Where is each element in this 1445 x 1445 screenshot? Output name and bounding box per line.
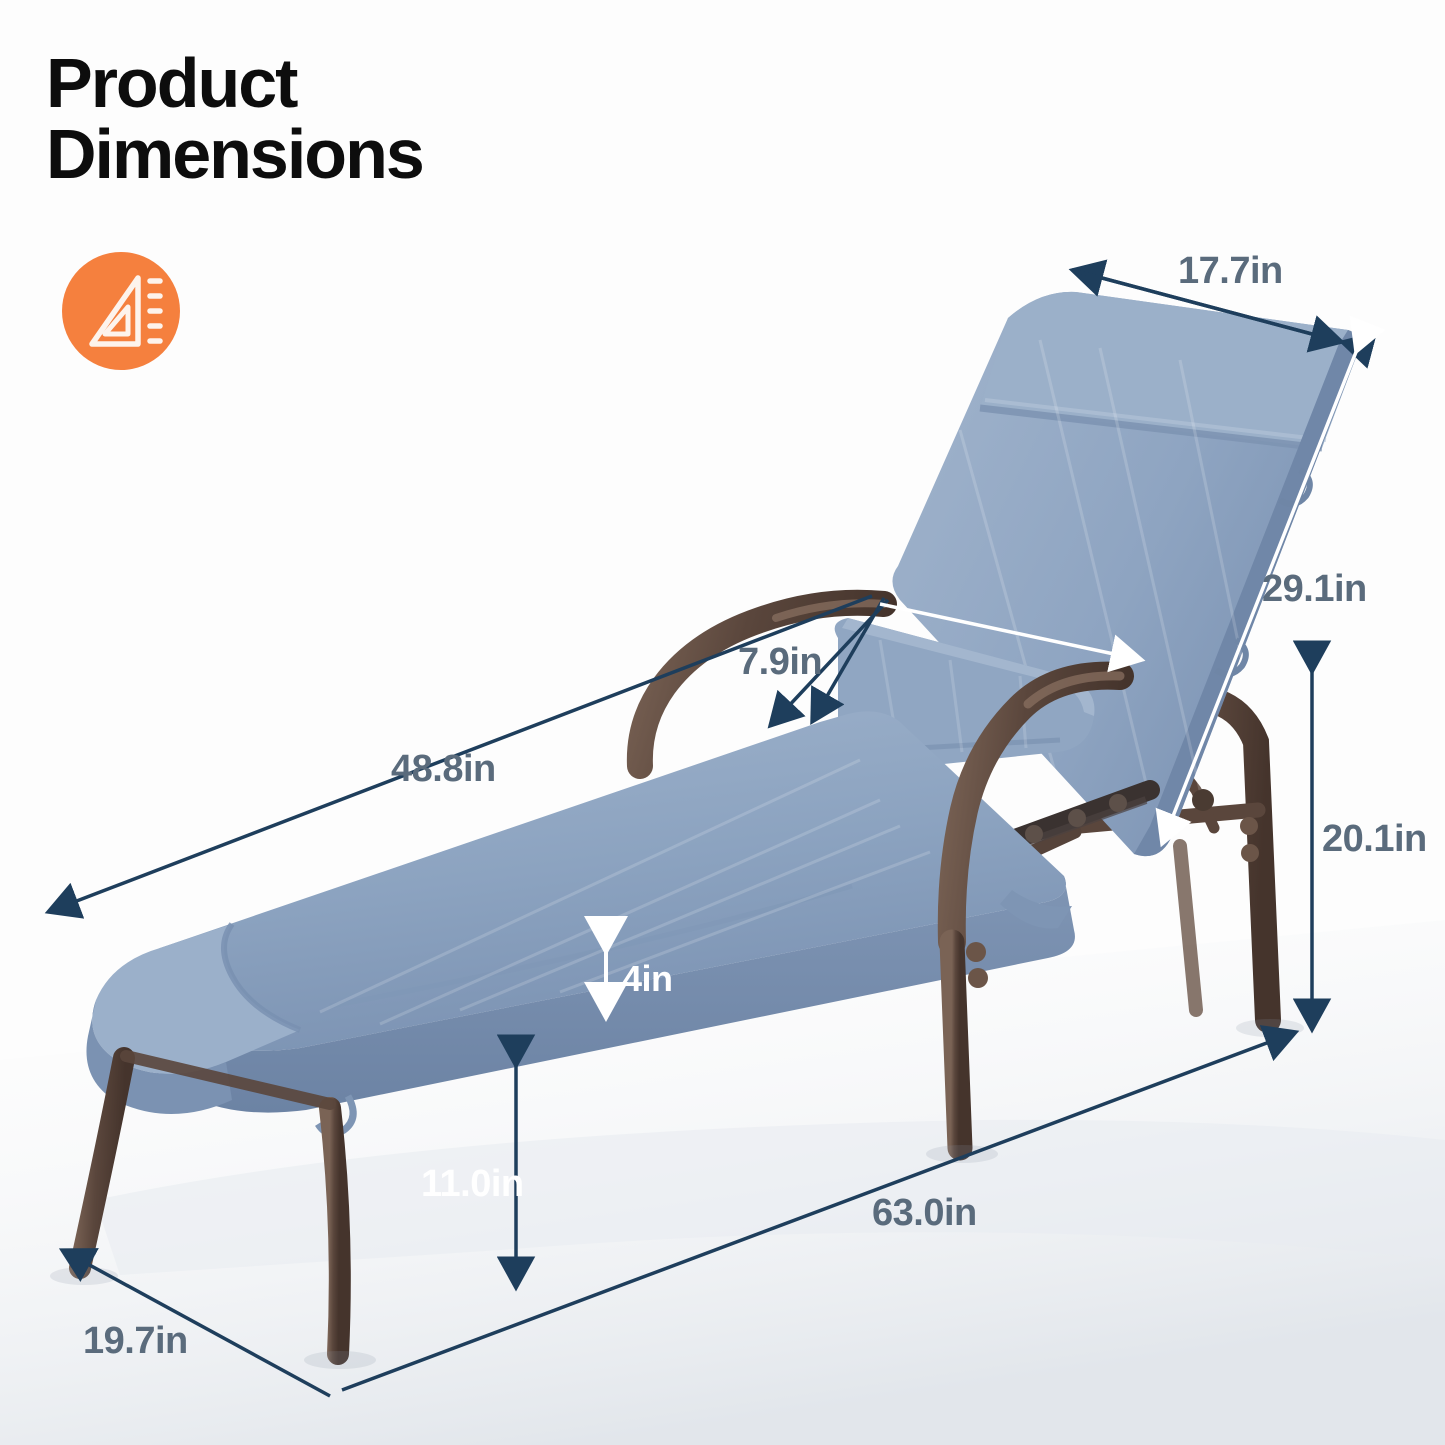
dimension-label-back-height: 20.1in — [1322, 818, 1427, 861]
product-illustration — [0, 0, 1445, 1445]
dimension-label-cushion-length: 48.8in — [391, 748, 496, 791]
dimension-label-width-top: 17.7in — [1178, 250, 1283, 293]
dimension-label-cushion-thickness: 4in — [622, 958, 673, 1000]
dimension-label-armrest-depth: 7.9in — [738, 641, 822, 684]
dimension-label-front-leg-height: 11.0in — [421, 1163, 524, 1206]
product-dimensions-infographic: Product Dimensions — [0, 0, 1445, 1445]
dimension-label-backrest-length: 29.1in — [1262, 568, 1367, 611]
dimension-label-overall-length: 63.0in — [872, 1192, 977, 1235]
dimension-label-overall-width: 19.7in — [83, 1320, 188, 1363]
